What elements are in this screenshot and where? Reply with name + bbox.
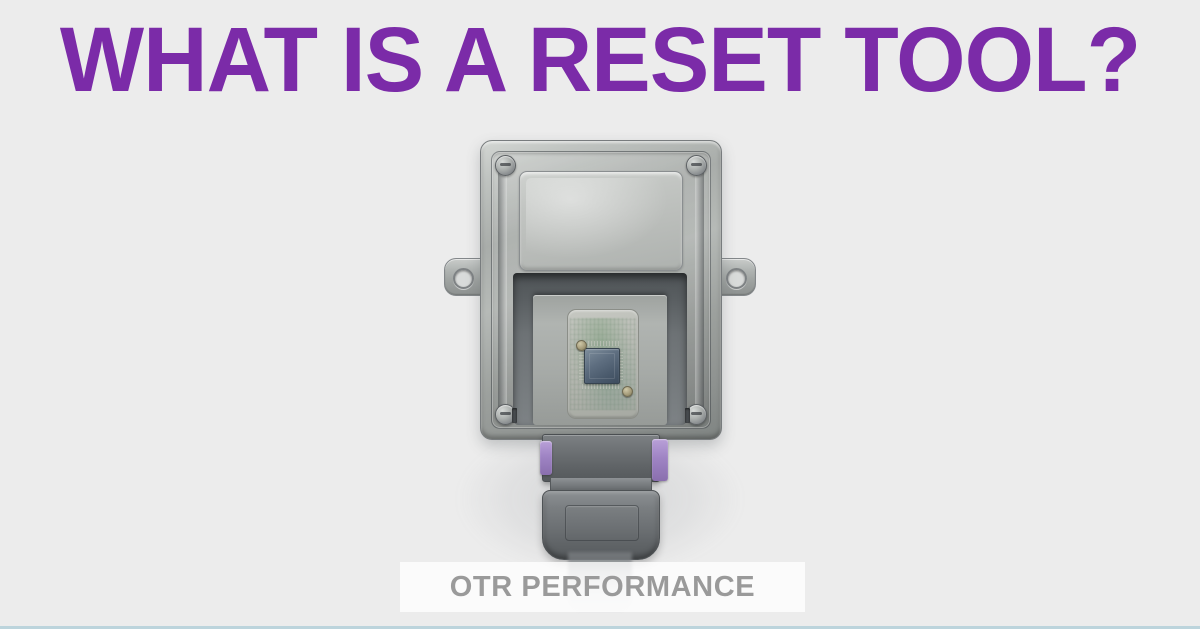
label-plate [519, 171, 683, 271]
mounting-hole-right-icon [726, 268, 747, 289]
vent-slot-right [685, 408, 690, 423]
pcb-window [567, 309, 639, 419]
screw-icon-top-right [686, 155, 707, 176]
connector-clip-right [652, 439, 668, 481]
watermark-band: OTR PERFORMANCE [400, 562, 805, 612]
housing-channel-right [695, 157, 704, 423]
board-screw-icon-1 [576, 340, 587, 351]
product-image [432, 134, 768, 604]
slide-canvas: WHAT IS A RESET TOOL? [0, 0, 1200, 629]
page-title: WHAT IS A RESET TOOL? [18, 8, 1182, 112]
ecu-housing [480, 140, 722, 440]
mounting-hole-left-icon [453, 268, 474, 289]
processor-chip [584, 348, 620, 384]
chip-pins-bottom [582, 384, 620, 389]
recessed-well [513, 273, 687, 425]
vent-slot-left [512, 408, 517, 423]
watermark-text: OTR PERFORMANCE [450, 571, 755, 604]
connector-body [542, 490, 660, 560]
screw-icon-top-left [495, 155, 516, 176]
connector-collar [542, 434, 660, 482]
board-screw-icon-2 [622, 386, 633, 397]
connector-clip-left [540, 441, 552, 475]
housing-channel-left [498, 157, 507, 423]
chip-pins-top [582, 341, 620, 346]
well-bevel [533, 295, 667, 425]
